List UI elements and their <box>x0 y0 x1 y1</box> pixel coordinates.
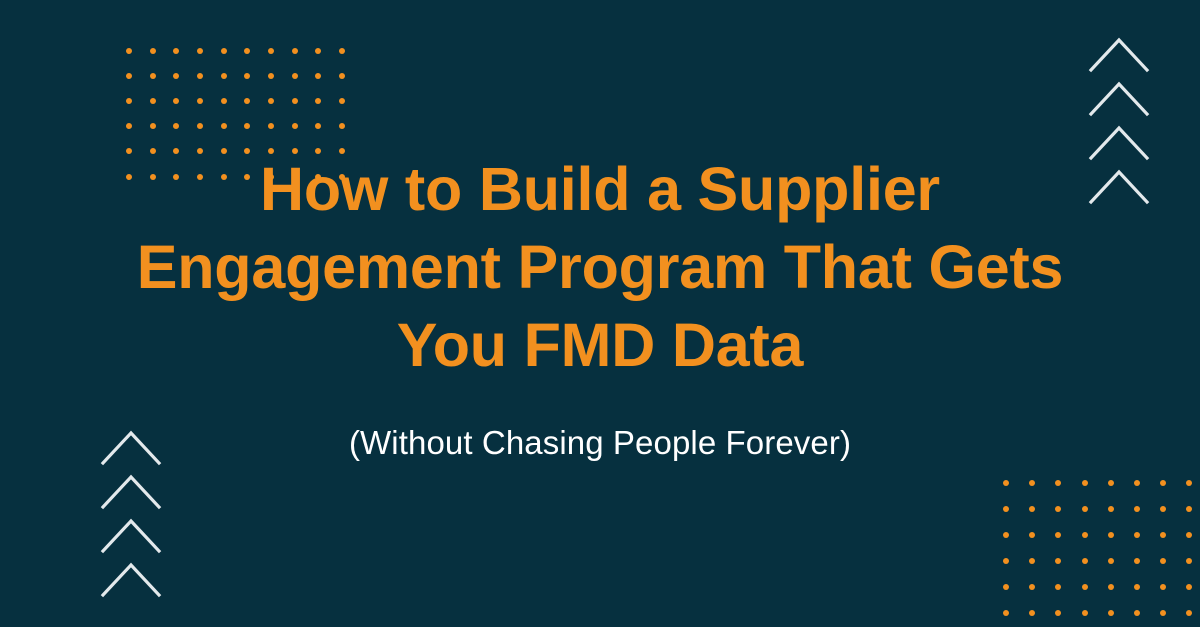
banner-headline: How to Build a Supplier Engagement Progr… <box>95 150 1105 384</box>
banner-graphic: How to Build a Supplier Engagement Progr… <box>0 0 1200 627</box>
banner-subheadline: (Without Chasing People Forever) <box>95 422 1105 464</box>
banner-text-block: How to Build a Supplier Engagement Progr… <box>0 0 1200 627</box>
